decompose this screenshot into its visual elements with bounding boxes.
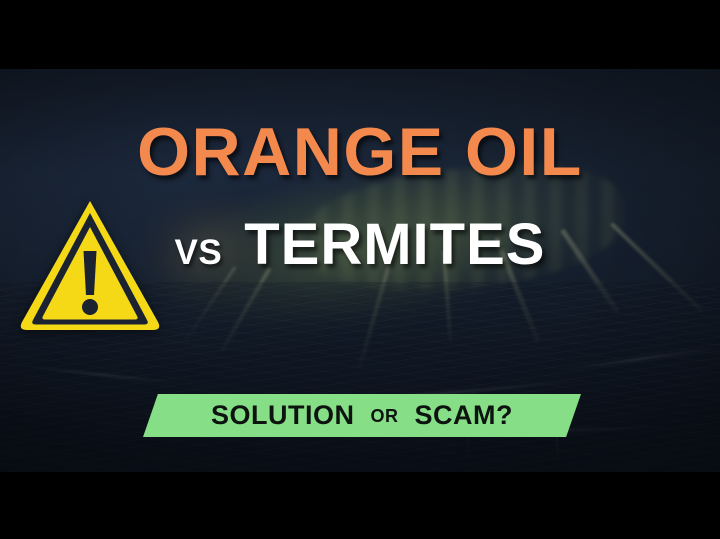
thumbnail-artwork: ORANGE OIL VSTERMITES SOLUTION OR SCAM? (0, 69, 720, 472)
video-thumbnail: ORANGE OIL VSTERMITES SOLUTION OR SCAM? (0, 0, 720, 539)
label-termites: TERMITES (244, 216, 545, 274)
label-scam: SCAM? (415, 400, 514, 431)
title-orange-oil: ORANGE OIL (0, 118, 720, 186)
subtitle-banner: SOLUTION OR SCAM? (143, 394, 581, 437)
title-vs-termites-row: VSTERMITES (0, 216, 720, 274)
label-or: OR (371, 406, 399, 427)
letterbox-bar-top (0, 0, 720, 69)
letterbox-bar-bottom (0, 472, 720, 539)
label-solution: SOLUTION (211, 400, 355, 431)
label-vs: VS (175, 235, 223, 270)
